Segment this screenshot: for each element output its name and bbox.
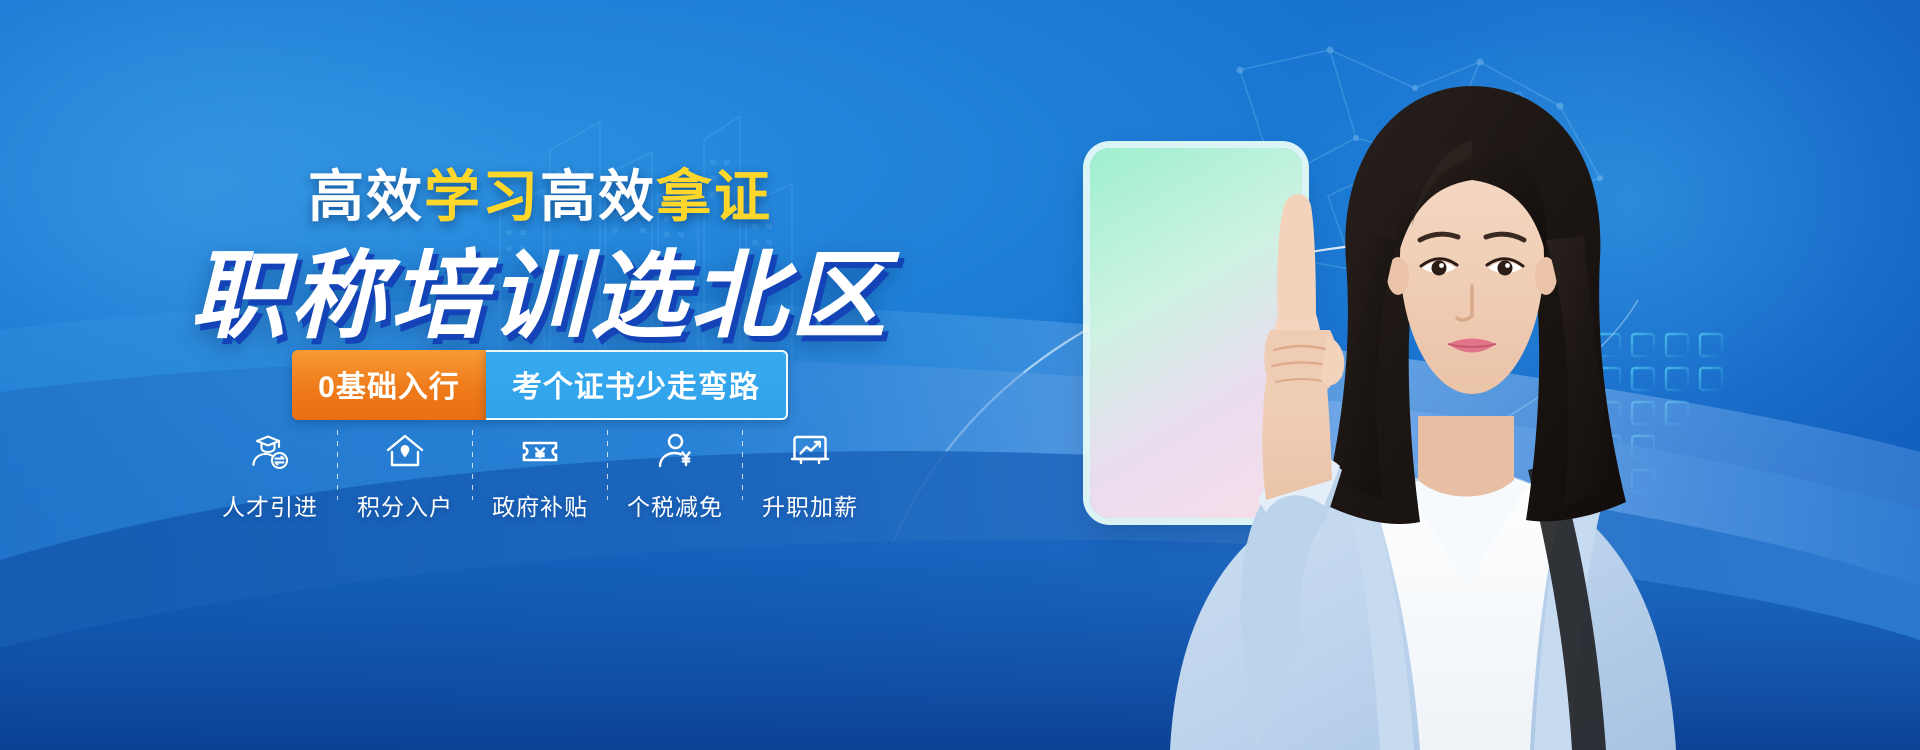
feature-item-tax-relief[interactable]: 个税减免: [608, 428, 742, 522]
avatar: [1020, 0, 1920, 750]
headline-part-before: 职称培训: [190, 243, 590, 350]
feature-item-residence[interactable]: 积分入户: [338, 428, 472, 522]
person-yuan-icon: [653, 428, 697, 474]
ticket-yuan-icon: [518, 428, 562, 474]
feature-label: 政府补贴: [492, 488, 588, 522]
talent-graduate-icon: [248, 428, 292, 474]
feature-label: 升职加薪: [762, 488, 858, 522]
tag-certificate-shortcut[interactable]: 考个证书少走弯路: [486, 350, 788, 420]
hero-image-area: [1020, 0, 1920, 750]
tag-zero-basis[interactable]: 0基础入行: [292, 350, 486, 420]
feature-row: 人才引进 积分入户: [0, 428, 1080, 522]
chart-growth-icon: [788, 428, 832, 474]
promo-banner: 高效学习高效拿证 职称培训选北区 0基础入行 考个证书少走弯路: [0, 0, 1920, 750]
tag-row: 0基础入行 考个证书少走弯路: [0, 350, 1080, 420]
feature-label: 人才引进: [222, 488, 318, 522]
headline-accent: 选: [590, 218, 690, 357]
page-title: 职称培训选北区: [0, 218, 1080, 357]
feature-item-subsidy[interactable]: 政府补贴: [473, 428, 607, 522]
feature-item-talent[interactable]: 人才引进: [203, 428, 337, 522]
house-pin-icon: [383, 428, 427, 474]
headline-part-after: 北区: [690, 243, 890, 350]
banner-content: 高效学习高效拿证 职称培训选北区 0基础入行 考个证书少走弯路: [0, 0, 1080, 750]
feature-item-promotion[interactable]: 升职加薪: [743, 428, 877, 522]
feature-label: 积分入户: [357, 488, 453, 522]
feature-label: 个税减免: [627, 488, 723, 522]
